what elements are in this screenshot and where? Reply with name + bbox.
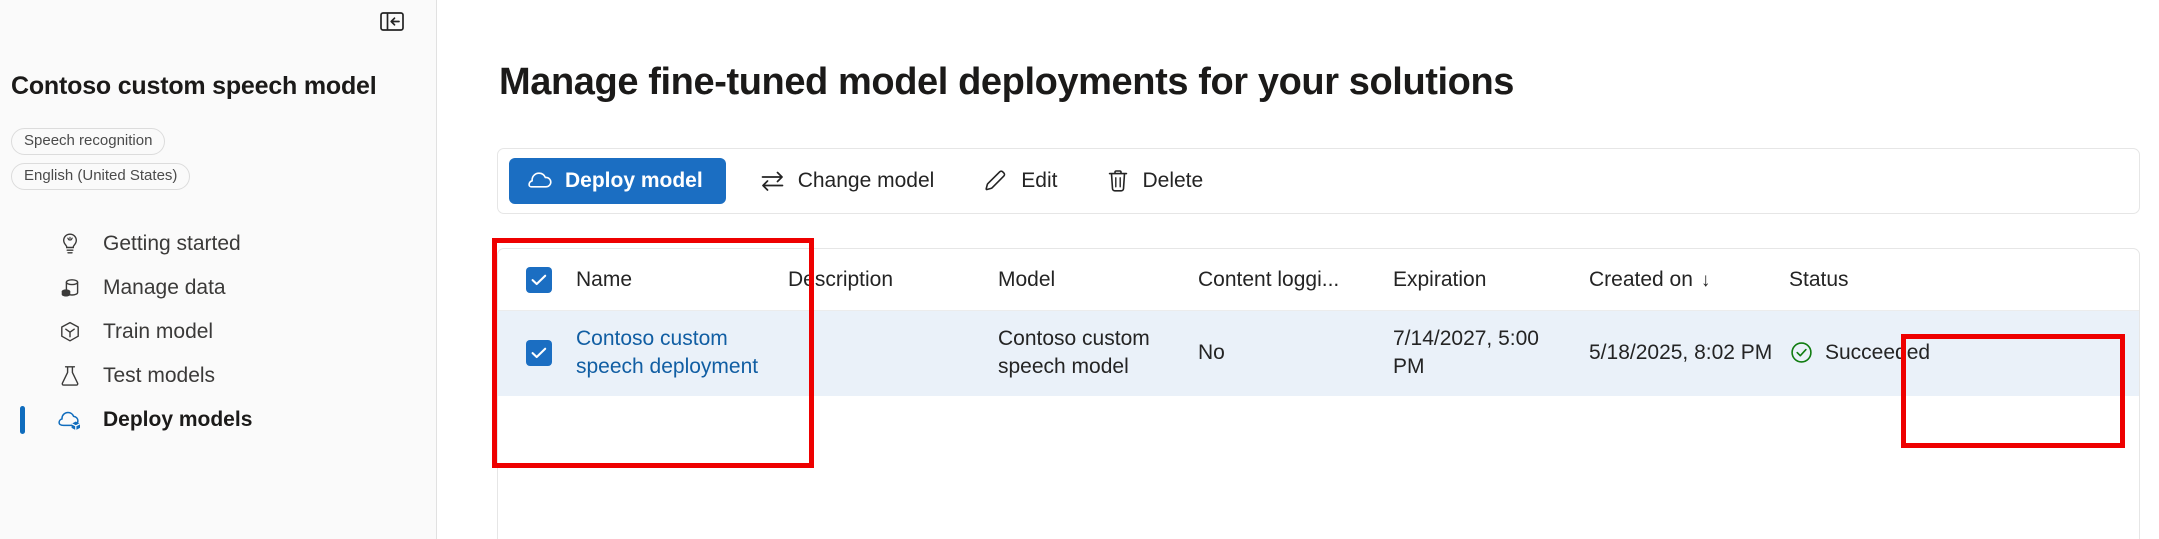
select-all-header — [498, 249, 576, 311]
sidebar-item-label: Train model — [103, 320, 213, 344]
command-toolbar: Deploy model Change model Edit — [497, 148, 2140, 214]
sidebar-item-label: Getting started — [103, 232, 241, 256]
cube-icon — [55, 317, 85, 347]
sidebar-item-test-models[interactable]: Test models — [0, 354, 437, 398]
project-title: Contoso custom speech model — [11, 72, 377, 101]
cell-name: Contoso custom speech deployment — [576, 311, 788, 397]
table-row[interactable]: Contoso custom speech deployment Contoso… — [498, 311, 2139, 397]
main-content: Manage fine-tuned model deployments for … — [437, 0, 2159, 539]
cell-model: Contoso custom speech model — [998, 311, 1198, 397]
status-badge: Succeeded — [1789, 339, 2125, 367]
flask-icon — [55, 361, 85, 391]
column-header-expiration[interactable]: Expiration — [1393, 249, 1589, 311]
change-model-label: Change model — [798, 169, 935, 193]
app-root: Contoso custom speech model Speech recog… — [0, 0, 2159, 539]
column-header-model[interactable]: Model — [998, 249, 1198, 311]
select-all-checkbox[interactable] — [526, 267, 552, 293]
sidebar-nav: Getting started Manage data — [0, 222, 437, 442]
cloud-deploy-icon — [55, 405, 85, 435]
trash-icon — [1107, 169, 1129, 193]
cell-content-logging: No — [1198, 311, 1393, 397]
row-select-cell — [498, 311, 576, 397]
sidebar-item-label: Deploy models — [103, 408, 252, 432]
pencil-icon — [984, 169, 1008, 193]
checkmark-icon — [531, 274, 547, 286]
lightbulb-icon — [55, 229, 85, 259]
sidebar-item-label: Test models — [103, 364, 215, 388]
cell-created-on: 5/18/2025, 8:02 PM — [1589, 311, 1789, 397]
panel-collapse-icon[interactable] — [376, 9, 408, 33]
deployments-table: Name Description Model Content loggi... … — [498, 249, 2139, 396]
page-title: Manage fine-tuned model deployments for … — [499, 61, 1514, 104]
chip-speech-recognition: Speech recognition — [11, 128, 165, 155]
panel-collapse-glyph — [380, 12, 404, 31]
sidebar-item-label: Manage data — [103, 276, 226, 300]
sidebar-item-train-model[interactable]: Train model — [0, 310, 437, 354]
delete-button[interactable]: Delete — [1091, 158, 1219, 204]
cell-expiration: 7/14/2027, 5:00 PM — [1393, 311, 1589, 397]
column-header-status[interactable]: Status — [1789, 249, 2139, 311]
cell-description — [788, 311, 998, 397]
checkmark-icon — [531, 347, 547, 359]
sidebar-item-deploy-models[interactable]: Deploy models — [0, 398, 437, 442]
column-header-content-logging[interactable]: Content loggi... — [1198, 249, 1393, 311]
status-label: Succeeded — [1825, 339, 1930, 367]
project-tag-list: Speech recognition English (United State… — [11, 128, 190, 198]
sidebar-item-getting-started[interactable]: Getting started — [0, 222, 437, 266]
deployments-table-card: Name Description Model Content loggi... … — [497, 248, 2140, 539]
sidebar-item-manage-data[interactable]: Manage data — [0, 266, 437, 310]
cell-status: Succeeded — [1789, 311, 2139, 397]
cloud-icon — [528, 172, 553, 191]
edit-label: Edit — [1021, 169, 1057, 193]
edit-button[interactable]: Edit — [968, 158, 1073, 204]
sort-descending-icon: ↓ — [1701, 270, 1711, 291]
sidebar: Contoso custom speech model Speech recog… — [0, 0, 437, 539]
deploy-model-button[interactable]: Deploy model — [509, 158, 726, 204]
deploy-model-label: Deploy model — [565, 169, 703, 193]
chip-language: English (United States) — [11, 163, 190, 190]
column-header-name[interactable]: Name — [576, 249, 788, 311]
deployment-name-link[interactable]: Contoso custom speech deployment — [576, 327, 758, 378]
database-icon — [55, 273, 85, 303]
swap-icon — [760, 170, 785, 192]
table-header-row: Name Description Model Content loggi... … — [498, 249, 2139, 311]
check-circle-icon — [1789, 340, 1814, 365]
column-header-created-on[interactable]: Created on↓ — [1589, 249, 1789, 311]
row-checkbox[interactable] — [526, 340, 552, 366]
column-header-created-on-label: Created on — [1589, 268, 1693, 291]
delete-label: Delete — [1142, 169, 1203, 193]
column-header-description[interactable]: Description — [788, 249, 998, 311]
change-model-button[interactable]: Change model — [744, 158, 951, 204]
